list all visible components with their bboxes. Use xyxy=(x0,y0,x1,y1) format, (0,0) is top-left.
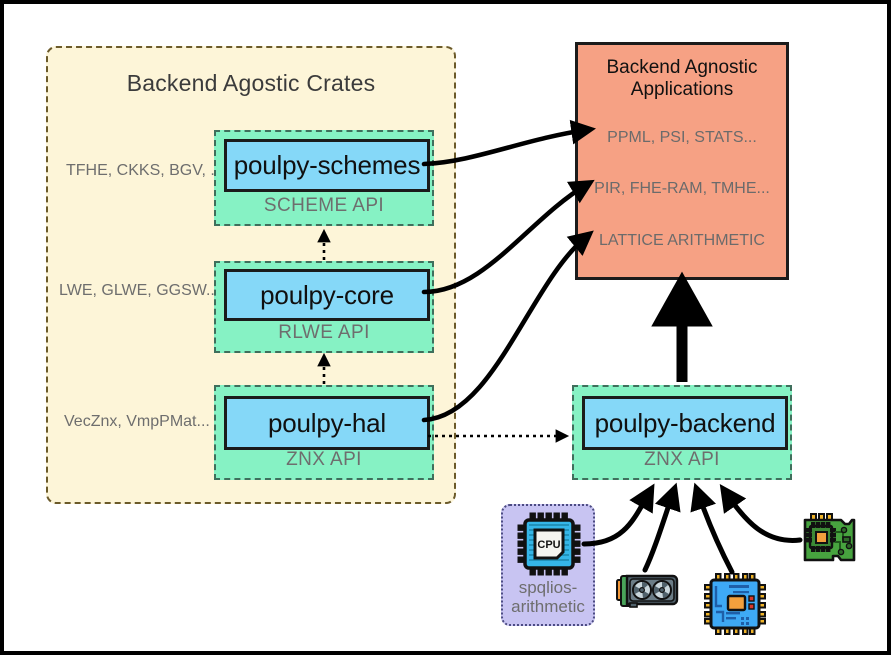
applications-box: Backend Agnostic Applications PPML, PSI,… xyxy=(575,42,789,280)
arrow-gpu-to-backend xyxy=(645,493,673,570)
crate-label-poulpy-core: poulpy-core xyxy=(260,280,394,311)
rlwe-api-label: RLWE API xyxy=(216,322,432,344)
arrow-pcb-to-backend xyxy=(726,493,800,540)
crate-label-poulpy-schemes: poulpy-schemes xyxy=(234,150,421,181)
fpga-chip-icon xyxy=(703,572,767,641)
gpu-card-icon xyxy=(615,570,679,619)
side-label-core: LWE, GLWE, GGSW... xyxy=(59,282,219,300)
svg-text:CPU: CPU xyxy=(537,539,560,551)
applications-title-line1: Backend Agnostic xyxy=(606,57,757,78)
scheme-api-label: SCHEME API xyxy=(216,195,432,217)
applications-title: Backend Agnostic Applications xyxy=(578,57,786,102)
crate-label-poulpy-backend: poulpy-backend xyxy=(595,408,776,439)
znx-api-label-hal: ZNX API xyxy=(216,449,432,471)
arrow-fpga-to-backend xyxy=(698,493,732,572)
application-item-pir: PIR, FHE-RAM, TMHE... xyxy=(578,180,786,198)
crates-panel-title: Backend Agostic Crates xyxy=(48,70,454,97)
application-item-lattice: LATTICE ARITHMETIC xyxy=(578,232,786,250)
spqlios-label: spqlios- arithmetic xyxy=(503,578,593,616)
applications-title-line2: Applications xyxy=(631,79,733,100)
crate-box-poulpy-schemes[interactable]: poulpy-schemes xyxy=(224,139,430,192)
side-label-schemes: TFHE, CKKS, BGV, ... xyxy=(66,162,216,180)
pcb-board-icon xyxy=(801,512,859,571)
crate-box-poulpy-backend[interactable]: poulpy-backend xyxy=(582,396,788,450)
side-label-hal: VecZnx, VmpPMat... xyxy=(64,413,224,431)
application-item-ppml: PPML, PSI, STATS... xyxy=(578,129,786,147)
crate-label-poulpy-hal: poulpy-hal xyxy=(268,408,386,439)
znx-api-label-backend: ZNX API xyxy=(574,449,790,471)
crate-box-poulpy-core[interactable]: poulpy-core xyxy=(224,269,430,321)
diagram-canvas: Backend Agostic Crates TFHE, CKKS, BGV, … xyxy=(0,0,891,655)
crate-box-poulpy-hal[interactable]: poulpy-hal xyxy=(224,396,430,450)
cpu-chip-icon: CPU xyxy=(517,512,581,581)
spqlios-label-line2: arithmetic xyxy=(511,597,585,616)
